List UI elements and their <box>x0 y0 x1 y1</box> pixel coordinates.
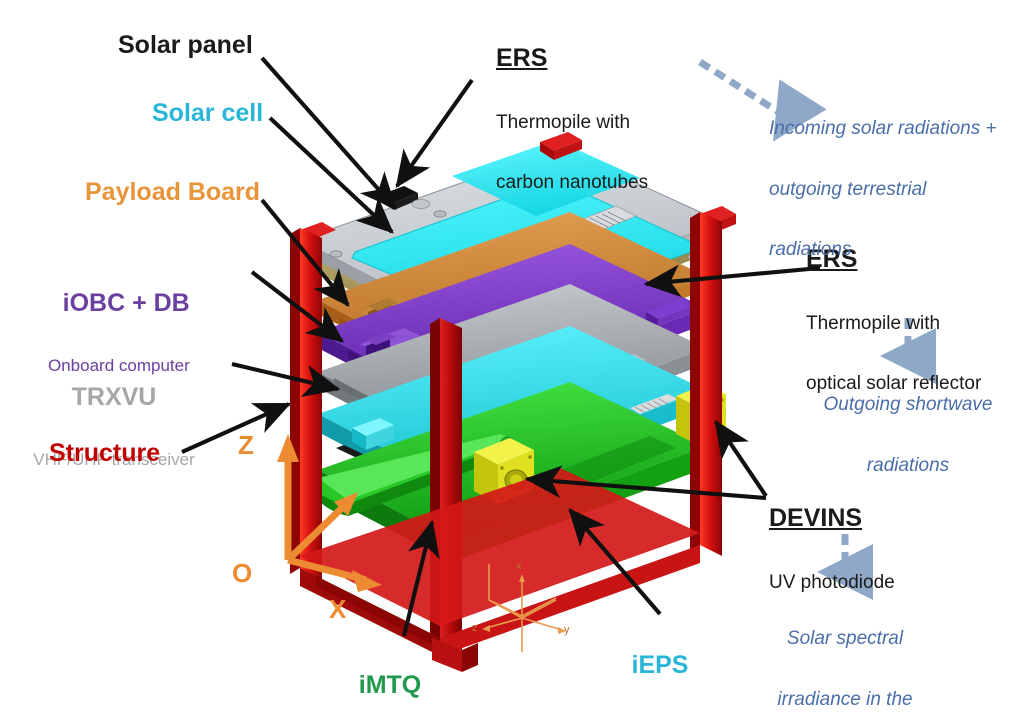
axis-label-o: O <box>232 559 252 589</box>
label-payload-board: Payload Board <box>85 178 260 207</box>
label-trxvu: TRXVU VHF/UHF transceiver <box>8 347 220 506</box>
label-ers-top: ERS Thermopile with carbon nanotubes <box>496 8 648 230</box>
label-imtq: iMTQ Magnetorquer board <box>287 635 493 713</box>
figure-canvas: Solar panel Solar cell Payload Board iOB… <box>0 0 1031 713</box>
note-incoming-line1: Incoming solar radiations + <box>769 118 997 140</box>
note-herzberg: Solar spectral irradiance in the Herzber… <box>740 592 950 713</box>
label-devins-sub: UV photodiode <box>769 572 895 594</box>
mini-axis-label-y: y <box>564 624 570 637</box>
note-herzberg-line1: Solar spectral <box>740 628 950 650</box>
mini-axis-label-z: z <box>472 622 478 635</box>
note-herzberg-line2: irradiance in the <box>740 689 950 711</box>
note-shortwave-line1: Outgoing shortwave <box>788 394 1028 416</box>
label-ers-top-sub2: carbon nanotubes <box>496 172 648 194</box>
note-incoming-line2: outgoing terrestrial <box>769 179 997 201</box>
label-ers-top-title: ERS <box>496 44 648 73</box>
label-solar-panel: Solar panel <box>118 31 253 60</box>
note-outgoing-shortwave: Outgoing shortwave radiations <box>788 358 1028 513</box>
axis-label-x: X <box>329 595 346 625</box>
note-incoming-line3: radiations <box>769 239 997 261</box>
label-imtq-title: iMTQ <box>287 671 493 700</box>
note-shortwave-line2: radiations <box>788 455 1028 477</box>
label-structure: Structure <box>49 439 160 468</box>
label-trxvu-title: TRXVU <box>8 383 220 412</box>
note-incoming-radiation: Incoming solar radiations + outgoing ter… <box>769 82 997 297</box>
mini-axis-label-x: x <box>516 560 522 573</box>
label-ers-right-sub1: Thermopile with <box>806 313 981 335</box>
label-ieps-title: iEPS <box>592 651 728 680</box>
label-solar-cell: Solar cell <box>152 99 263 128</box>
label-ieps: iEPS Electric Power Supply <box>592 615 728 713</box>
axis-label-z: Z <box>238 431 254 461</box>
label-ers-top-sub1: Thermopile with <box>496 112 648 134</box>
label-iobc-title: iOBC + DB <box>48 289 190 318</box>
